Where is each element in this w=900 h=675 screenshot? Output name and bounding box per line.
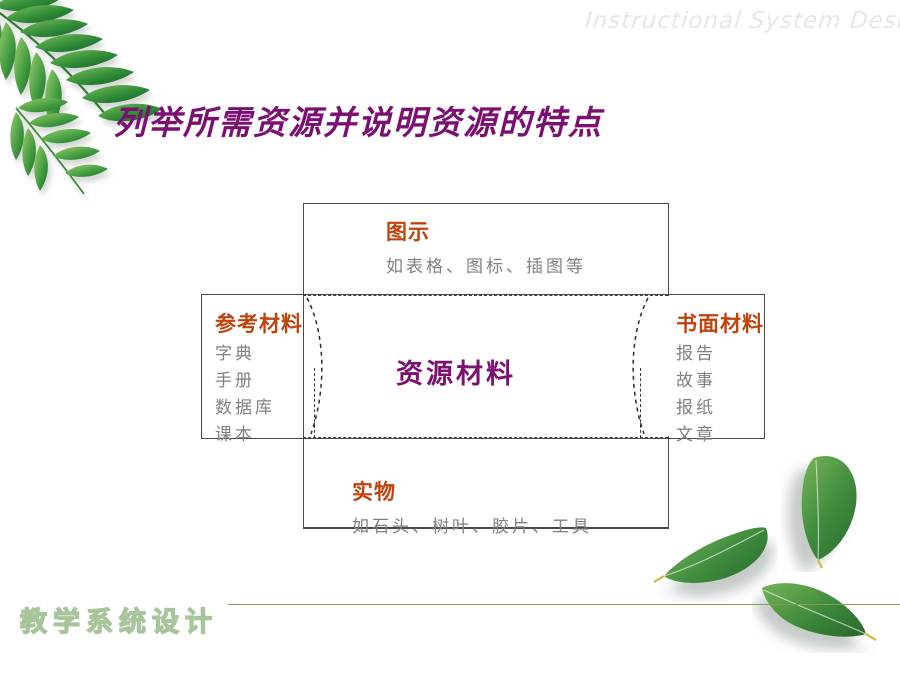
- diagram-divider-left: [314, 368, 315, 438]
- list-item: 手册: [215, 368, 303, 395]
- page-title: 列举所需资源并说明资源的特点: [113, 96, 603, 144]
- list-item: 报告: [676, 341, 764, 368]
- list-item: 数据库: [215, 395, 303, 422]
- list-item: 课本: [215, 422, 303, 449]
- section-illustrations-subtitle: 如表格、图标、插图等: [386, 252, 586, 277]
- section-reference-materials-heading: 参考材料: [215, 308, 303, 338]
- single-leaf-icon: [648, 522, 778, 602]
- slide-canvas: Instructional System Design 列举所需资源并说明资源的…: [0, 0, 900, 675]
- section-reference-materials-list: 字典 手册 数据库 课本: [215, 341, 303, 453]
- diagram-divider-bottom: [303, 437, 668, 438]
- section-reference-materials: 参考材料 字典 手册 数据库 课本: [215, 308, 303, 453]
- list-item: 故事: [676, 368, 764, 395]
- section-written-materials: 书面材料 报告 故事 报纸 文章: [676, 308, 764, 453]
- footer-title: 教学系统设计: [20, 600, 218, 639]
- diagram-center-label: 资源材料: [396, 352, 516, 391]
- single-leaf-icon: [778, 452, 888, 572]
- diagram-divider-right: [640, 368, 641, 438]
- section-physical-objects-heading: 实物: [352, 476, 592, 506]
- list-item: 报纸: [676, 395, 764, 422]
- brand-header: Instructional System Design: [584, 8, 900, 34]
- section-illustrations: 图示 如表格、图标、插图等: [386, 216, 586, 277]
- footer-rule: [228, 604, 900, 605]
- single-leaf-icon: [752, 578, 877, 653]
- list-item: 文章: [676, 422, 764, 449]
- section-physical-objects-subtitle: 如石头、树叶、胶片、工具: [352, 512, 592, 537]
- diagram-divider-top: [303, 295, 668, 296]
- section-written-materials-list: 报告 故事 报纸 文章: [676, 341, 764, 453]
- section-written-materials-heading: 书面材料: [676, 308, 764, 338]
- list-item: 字典: [215, 341, 303, 368]
- section-physical-objects: 实物 如石头、树叶、胶片、工具: [352, 476, 592, 537]
- section-illustrations-heading: 图示: [386, 216, 586, 246]
- diagram-arc-right-icon: [620, 292, 660, 442]
